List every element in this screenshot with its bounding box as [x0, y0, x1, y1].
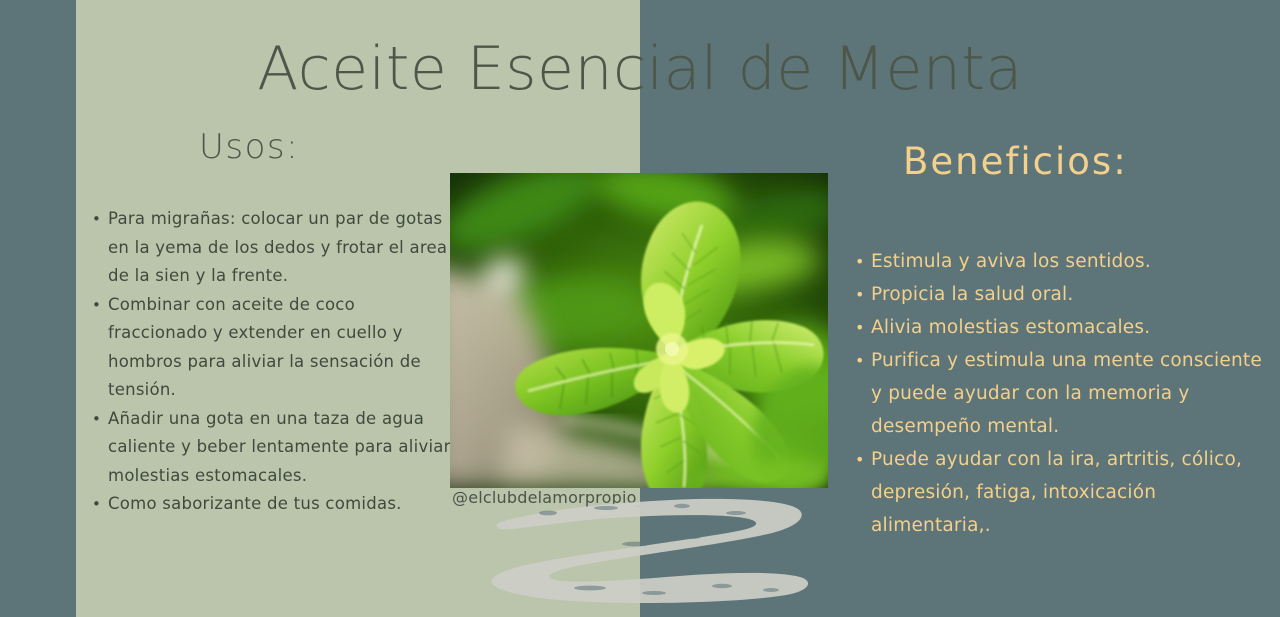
poster-canvas: Aceite Esencial de Menta Usos: Para migr…	[0, 0, 1280, 617]
list-item: Alivia molestias estomacales.	[871, 311, 1271, 344]
list-item: Añadir una gota en una taza de agua cali…	[108, 405, 453, 491]
mint-photo-illustration	[450, 173, 828, 488]
beneficios-list: Estimula y aviva los sentidos. Propicia …	[849, 245, 1271, 542]
beneficios-heading: Beneficios:	[903, 140, 1128, 184]
list-item: Puede ayudar con la ira, artritis, cólic…	[871, 443, 1271, 542]
list-item: Estimula y aviva los sentidos.	[871, 245, 1271, 278]
list-item: Purifica y estimula una mente consciente…	[871, 344, 1271, 443]
list-item: Como saborizante de tus comidas.	[108, 490, 453, 519]
list-item: Combinar con aceite de coco fraccionado …	[108, 291, 453, 405]
usos-heading: Usos:	[199, 127, 299, 168]
instagram-handle: @elclubdelamorpropio_	[452, 488, 645, 508]
list-item: Propicia la salud oral.	[871, 278, 1271, 311]
list-item: Para migrañas: colocar un par de gotas e…	[108, 205, 453, 291]
usos-list: Para migrañas: colocar un par de gotas e…	[86, 205, 453, 519]
page-title: Aceite Esencial de Menta	[0, 36, 1280, 102]
mint-photo	[450, 173, 828, 488]
